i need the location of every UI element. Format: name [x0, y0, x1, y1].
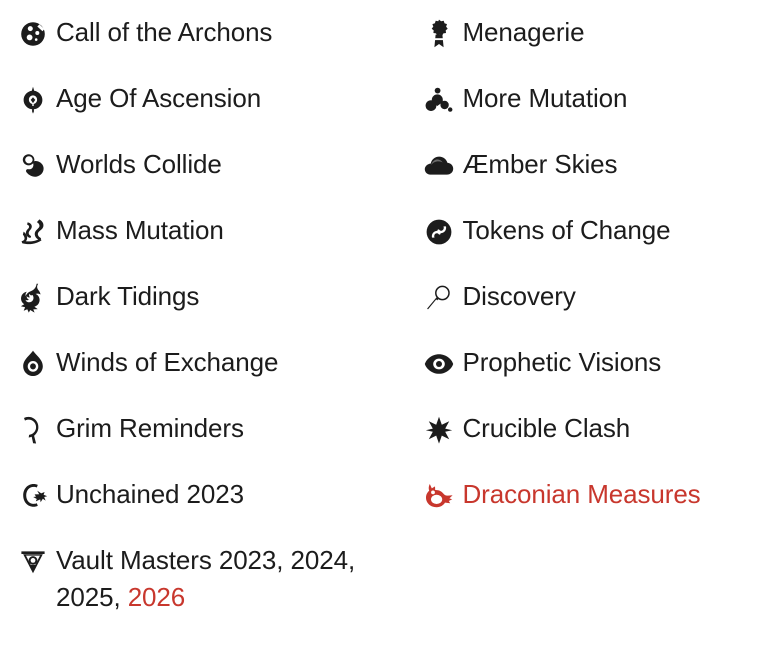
set-item-grim-reminders[interactable]: Grim Reminders — [18, 410, 392, 476]
grim-scythe-icon — [18, 413, 48, 447]
set-item-draconian-measures[interactable]: Draconian Measures — [424, 476, 784, 542]
set-item-label: Dark Tidings — [56, 278, 199, 315]
set-item-label: Crucible Clash — [462, 410, 630, 447]
set-item-age-of-ascension[interactable]: Age Of Ascension — [18, 80, 392, 146]
set-item-winds-of-exchange[interactable]: Winds of Exchange — [18, 344, 392, 410]
set-item-mass-mutation[interactable]: Mass Mutation — [18, 212, 392, 278]
set-item-label-main: Vault Masters 2023, 2024, 2025, — [56, 545, 362, 612]
star-burst-icon — [424, 413, 454, 447]
winds-droplet-icon — [18, 347, 48, 381]
set-item-label: Unchained 2023 — [56, 476, 244, 513]
set-item-prophetic-visions[interactable]: Prophetic Visions — [424, 344, 784, 410]
set-item-label: Grim Reminders — [56, 410, 244, 447]
set-column-left: Call of the Archons Age Of Ascension — [0, 14, 392, 632]
token-swirl-icon — [424, 215, 454, 249]
set-item-vault-masters[interactable]: Vault Masters 2023, 2024, 2025, 2026 — [18, 542, 392, 632]
set-item-label: Age Of Ascension — [56, 80, 261, 117]
colliding-worlds-icon — [18, 149, 48, 183]
eye-icon — [424, 347, 454, 381]
set-item-menagerie[interactable]: Menagerie — [424, 14, 784, 80]
set-item-label: More Mutation — [462, 80, 627, 117]
set-item-aember-skies[interactable]: Æmber Skies — [424, 146, 784, 212]
set-item-worlds-collide[interactable]: Worlds Collide — [18, 146, 392, 212]
set-item-discovery[interactable]: Discovery — [424, 278, 784, 344]
set-item-label: Discovery — [462, 278, 575, 315]
magnifier-icon — [424, 281, 454, 315]
broken-chain-icon — [18, 479, 48, 513]
set-item-label: Menagerie — [462, 14, 584, 51]
vault-triangle-icon — [18, 545, 48, 579]
rosette-ribbon-icon — [424, 17, 454, 51]
set-item-label-accent: 2026 — [128, 582, 185, 612]
set-item-label: Draconian Measures — [462, 476, 700, 513]
set-item-more-mutation[interactable]: More Mutation — [424, 80, 784, 146]
set-column-right: Menagerie More Mutation Æ — [392, 14, 784, 542]
set-item-label: Æmber Skies — [462, 146, 617, 183]
dark-tidings-flame-icon — [18, 281, 48, 315]
set-item-label: Mass Mutation — [56, 212, 224, 249]
set-item-call-of-the-archons[interactable]: Call of the Archons — [18, 14, 392, 80]
archon-moon-icon — [18, 17, 48, 51]
set-item-label: Worlds Collide — [56, 146, 222, 183]
set-item-label: Vault Masters 2023, 2024, 2025, 2026 — [56, 542, 356, 616]
set-item-unchained-2023[interactable]: Unchained 2023 — [18, 476, 392, 542]
set-item-label: Call of the Archons — [56, 14, 272, 51]
molecule-icon — [424, 83, 454, 117]
dragon-head-icon — [424, 479, 454, 513]
set-item-label: Winds of Exchange — [56, 344, 278, 381]
cloud-icon — [424, 149, 454, 183]
set-list: Call of the Archons Age Of Ascension — [0, 0, 784, 650]
set-item-crucible-clash[interactable]: Crucible Clash — [424, 410, 784, 476]
ascension-bulb-icon — [18, 83, 48, 117]
mass-mutation-icon — [18, 215, 48, 249]
set-item-label: Prophetic Visions — [462, 344, 661, 381]
set-item-dark-tidings[interactable]: Dark Tidings — [18, 278, 392, 344]
set-item-tokens-of-change[interactable]: Tokens of Change — [424, 212, 784, 278]
set-item-label: Tokens of Change — [462, 212, 670, 249]
